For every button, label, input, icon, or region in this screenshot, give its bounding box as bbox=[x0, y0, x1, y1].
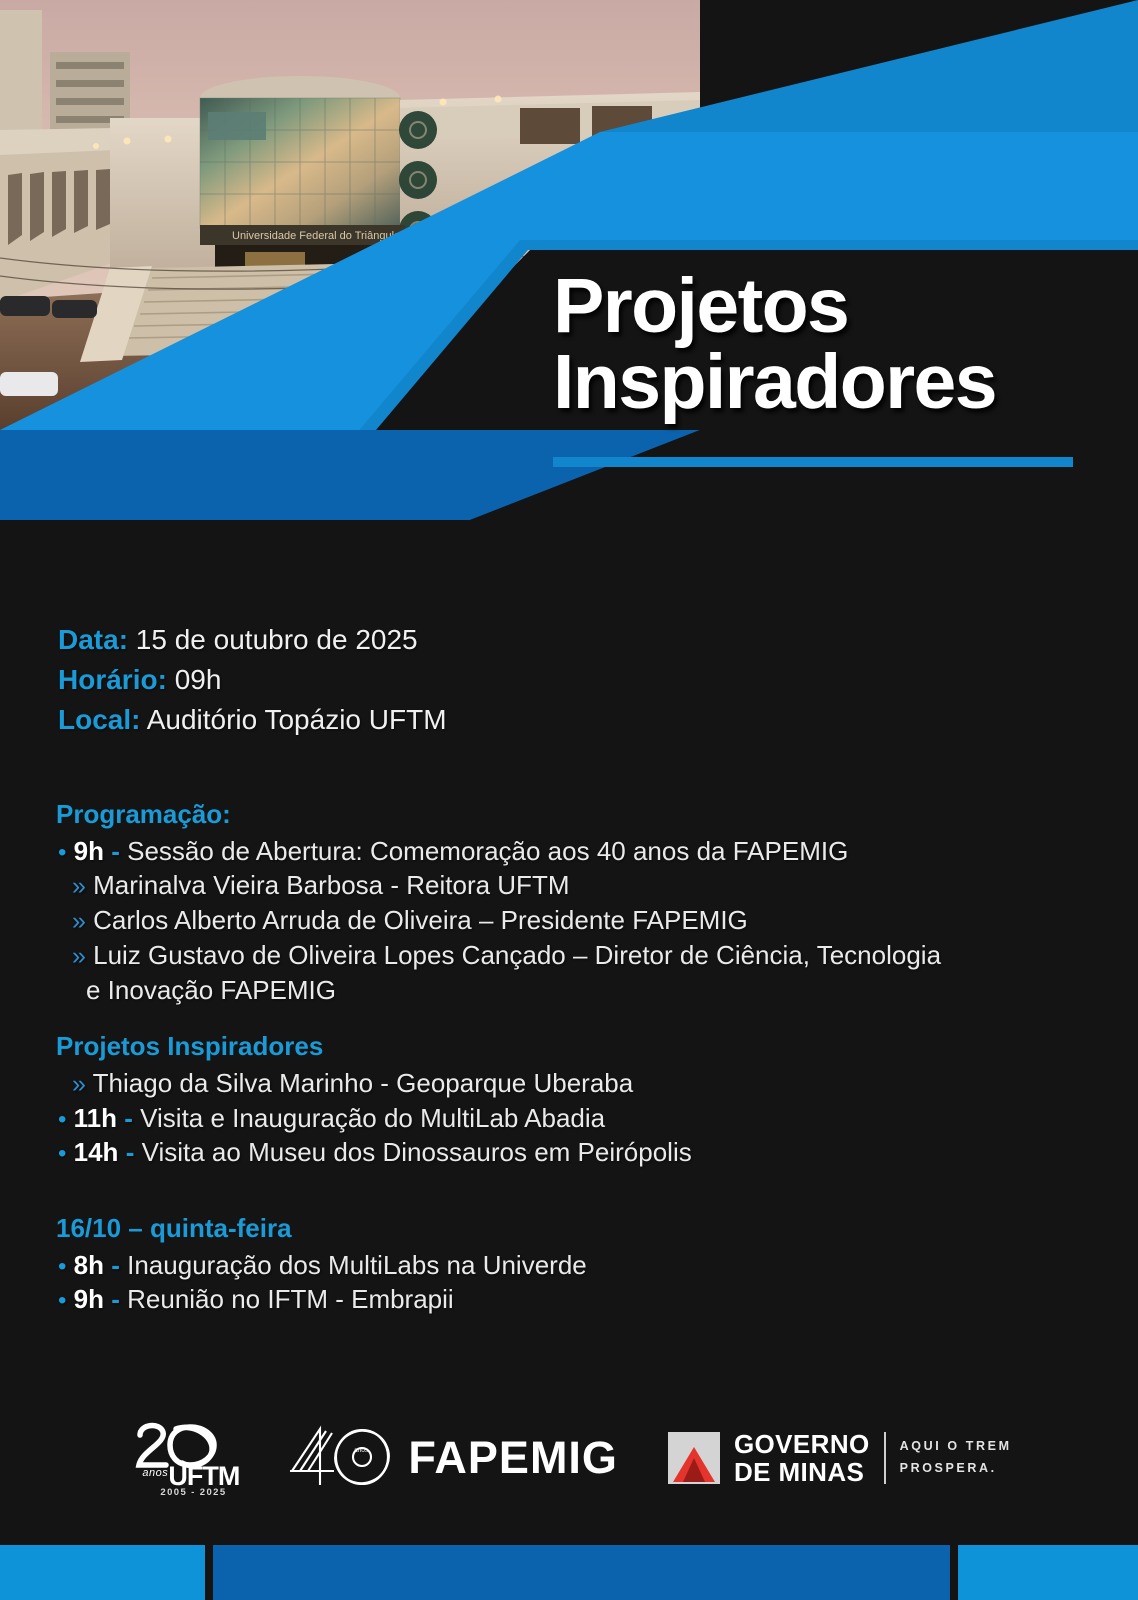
program-item-1-text: Marinalva Vieira Barbosa - Reitora UFTM bbox=[93, 870, 569, 900]
governo-wordmark: GOVERNO DE MINAS bbox=[734, 1430, 870, 1486]
slogan-line-2: PROSPERA. bbox=[900, 1458, 1012, 1480]
day-two-item-1-dash: - bbox=[111, 1284, 120, 1314]
day-two-item-1-text: Reunião no IFTM - Embrapii bbox=[127, 1284, 454, 1314]
minas-triangle-icon bbox=[668, 1432, 720, 1484]
event-place-row: Local: Auditório Topázio UFTM bbox=[58, 700, 447, 740]
slogan-line-1: AQUI O TREM bbox=[900, 1436, 1012, 1458]
day-two-item-0: • 8h - Inauguração dos MultiLabs na Univ… bbox=[56, 1248, 1086, 1283]
bullet-dot-icon: • bbox=[58, 1140, 66, 1167]
day-two-heading: 16/10 – quinta-feira bbox=[56, 1212, 1086, 1246]
inspiring-item-1: • 11h - Visita e Inauguração do MultiLab… bbox=[56, 1101, 1086, 1136]
fapemig-logo: anos FAPEMIG bbox=[286, 1421, 618, 1495]
title-underline-rule bbox=[553, 457, 1073, 467]
bottom-bar-segment-right bbox=[958, 1545, 1138, 1600]
day-two-item-0-text: Inauguração dos MultiLabs na Univerde bbox=[127, 1250, 587, 1280]
bottom-bar-segment-center bbox=[213, 1545, 950, 1600]
day-two-item-0-dash: - bbox=[111, 1250, 120, 1280]
fapemig-anos-label: anos bbox=[354, 1447, 369, 1454]
fapemig-40-anos-mark: anos bbox=[286, 1421, 406, 1495]
poster-canvas: Universidade Federal do Triângulo Mineir… bbox=[0, 0, 1138, 1600]
inspiring-item-2-dash: - bbox=[126, 1137, 135, 1167]
bottom-color-bar bbox=[0, 1545, 1138, 1600]
inspiring-heading: Projetos Inspiradores bbox=[56, 1030, 1086, 1064]
program-item-0-time: 9h bbox=[74, 836, 104, 866]
title-line-2: Inspiradores bbox=[553, 344, 1093, 420]
inspiring-item-1-dash: - bbox=[124, 1103, 133, 1133]
bottom-bar-gap-right bbox=[950, 1545, 958, 1600]
inspiring-item-0: » Thiago da Silva Marinho - Geoparque Ub… bbox=[56, 1066, 1086, 1101]
program-item-0: • 9h - Sessão de Abertura: Comemoração a… bbox=[56, 834, 1086, 869]
title-line-1: Projetos bbox=[553, 268, 1093, 344]
day-two-item-1: • 9h - Reunião no IFTM - Embrapii bbox=[56, 1282, 1086, 1317]
date-label: Data: bbox=[58, 624, 128, 655]
bottom-bar-gap-left bbox=[205, 1545, 213, 1600]
chevron-double-right-icon: » bbox=[72, 1070, 86, 1098]
chevron-double-right-icon: » bbox=[72, 907, 86, 935]
program-item-3: » Luiz Gustavo de Oliveira Lopes Cançado… bbox=[56, 938, 1086, 973]
bullet-dot-icon: • bbox=[58, 839, 66, 866]
chevron-double-right-icon: » bbox=[72, 942, 86, 970]
bullet-dot-icon: • bbox=[58, 1106, 66, 1133]
black-fill-bottom bbox=[0, 520, 1138, 560]
program-item-0-text: Sessão de Abertura: Comemoração aos 40 a… bbox=[127, 836, 848, 866]
governo-line-1: GOVERNO bbox=[734, 1430, 870, 1458]
inspiring-item-2-text: Visita ao Museu dos Dinossauros em Peiró… bbox=[142, 1137, 692, 1167]
program-item-0-dash: - bbox=[111, 836, 120, 866]
event-details: Data: 15 de outubro de 2025 Horário: 09h… bbox=[58, 620, 447, 739]
program-item-2-text: Carlos Alberto Arruda de Oliveira – Pres… bbox=[93, 905, 748, 935]
governo-line-2: DE MINAS bbox=[734, 1458, 870, 1486]
program-item-1: » Marinalva Vieira Barbosa - Reitora UFT… bbox=[56, 868, 1086, 903]
inspiring-item-2-time: 14h bbox=[74, 1137, 119, 1167]
inspiring-item-2: • 14h - Visita ao Museu dos Dinossauros … bbox=[56, 1135, 1086, 1170]
program-item-2: » Carlos Alberto Arruda de Oliveira – Pr… bbox=[56, 903, 1086, 938]
uftm-years-range: 2005 - 2025 bbox=[160, 1487, 226, 1498]
governo-de-minas-logo: GOVERNO DE MINAS AQUI O TREM PROSPERA. bbox=[668, 1430, 1012, 1486]
date-value: 15 de outubro de 2025 bbox=[136, 624, 418, 655]
inspiring-item-0-text: Thiago da Silva Marinho - Geoparque Uber… bbox=[93, 1068, 634, 1098]
program-schedule: Programação: • 9h - Sessão de Abertura: … bbox=[56, 798, 1086, 1317]
time-value: 09h bbox=[175, 664, 222, 695]
place-value: Auditório Topázio UFTM bbox=[147, 704, 447, 735]
day-two-item-1-time: 9h bbox=[74, 1284, 104, 1314]
place-label: Local: bbox=[58, 704, 140, 735]
inspiring-item-1-text: Visita e Inauguração do MultiLab Abadia bbox=[140, 1103, 605, 1133]
program-item-3-continuation: e Inovação FAPEMIG bbox=[56, 973, 1086, 1007]
fapemig-wordmark: FAPEMIG bbox=[408, 1432, 618, 1484]
inspiring-item-1-time: 11h bbox=[74, 1103, 117, 1133]
bullet-dot-icon: • bbox=[58, 1287, 66, 1314]
day-two-item-0-time: 8h bbox=[74, 1250, 104, 1280]
logo-divider bbox=[884, 1432, 886, 1484]
sponsor-logos: anos UFTM 2005 - 2025 anos FAPEMIG bbox=[0, 1398, 1138, 1518]
uftm-anos-label: anos bbox=[142, 1467, 168, 1479]
time-label: Horário: bbox=[58, 664, 167, 695]
program-item-3-text: Luiz Gustavo de Oliveira Lopes Cançado –… bbox=[93, 940, 941, 970]
bottom-bar-segment-left bbox=[0, 1545, 205, 1600]
event-date-row: Data: 15 de outubro de 2025 bbox=[58, 620, 447, 660]
chevron-double-right-icon: » bbox=[72, 872, 86, 900]
poster-title: Projetos Inspiradores bbox=[553, 268, 1093, 420]
governo-slogan: AQUI O TREM PROSPERA. bbox=[900, 1436, 1012, 1480]
program-heading: Programação: bbox=[56, 798, 1086, 832]
event-time-row: Horário: 09h bbox=[58, 660, 447, 700]
uftm-logo: anos UFTM 2005 - 2025 bbox=[126, 1415, 236, 1501]
bullet-dot-icon: • bbox=[58, 1253, 66, 1280]
